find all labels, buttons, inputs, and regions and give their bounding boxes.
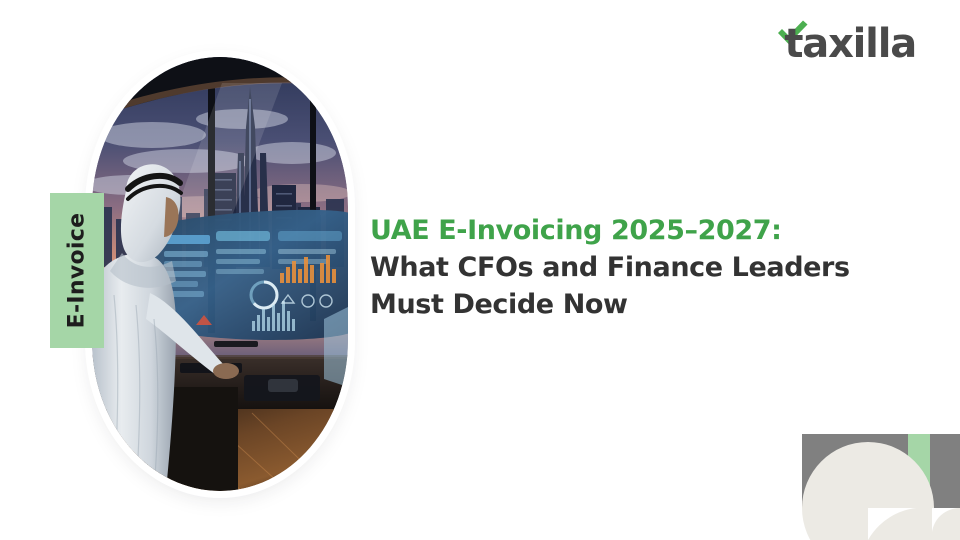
headline-line-1: UAE E-Invoicing 2025–2027: bbox=[370, 212, 890, 249]
e-invoice-badge-label: E-Invoice bbox=[65, 213, 90, 329]
slide-canvas: taxilla bbox=[0, 0, 960, 540]
headline-line-3: Must Decide Now bbox=[370, 286, 890, 323]
taxilla-logo[interactable]: taxilla bbox=[784, 22, 916, 66]
e-invoice-badge: E-Invoice bbox=[50, 193, 104, 348]
headline-line-2: What CFOs and Finance Leaders bbox=[370, 249, 890, 286]
hero-image-frame bbox=[92, 57, 348, 491]
hero-photo bbox=[92, 57, 348, 491]
logo-wordmark: taxilla bbox=[784, 22, 916, 66]
corner-decoration bbox=[802, 434, 960, 540]
geometric-corner-pattern-icon bbox=[802, 434, 960, 540]
headline-block: UAE E-Invoicing 2025–2027: What CFOs and… bbox=[370, 212, 890, 323]
